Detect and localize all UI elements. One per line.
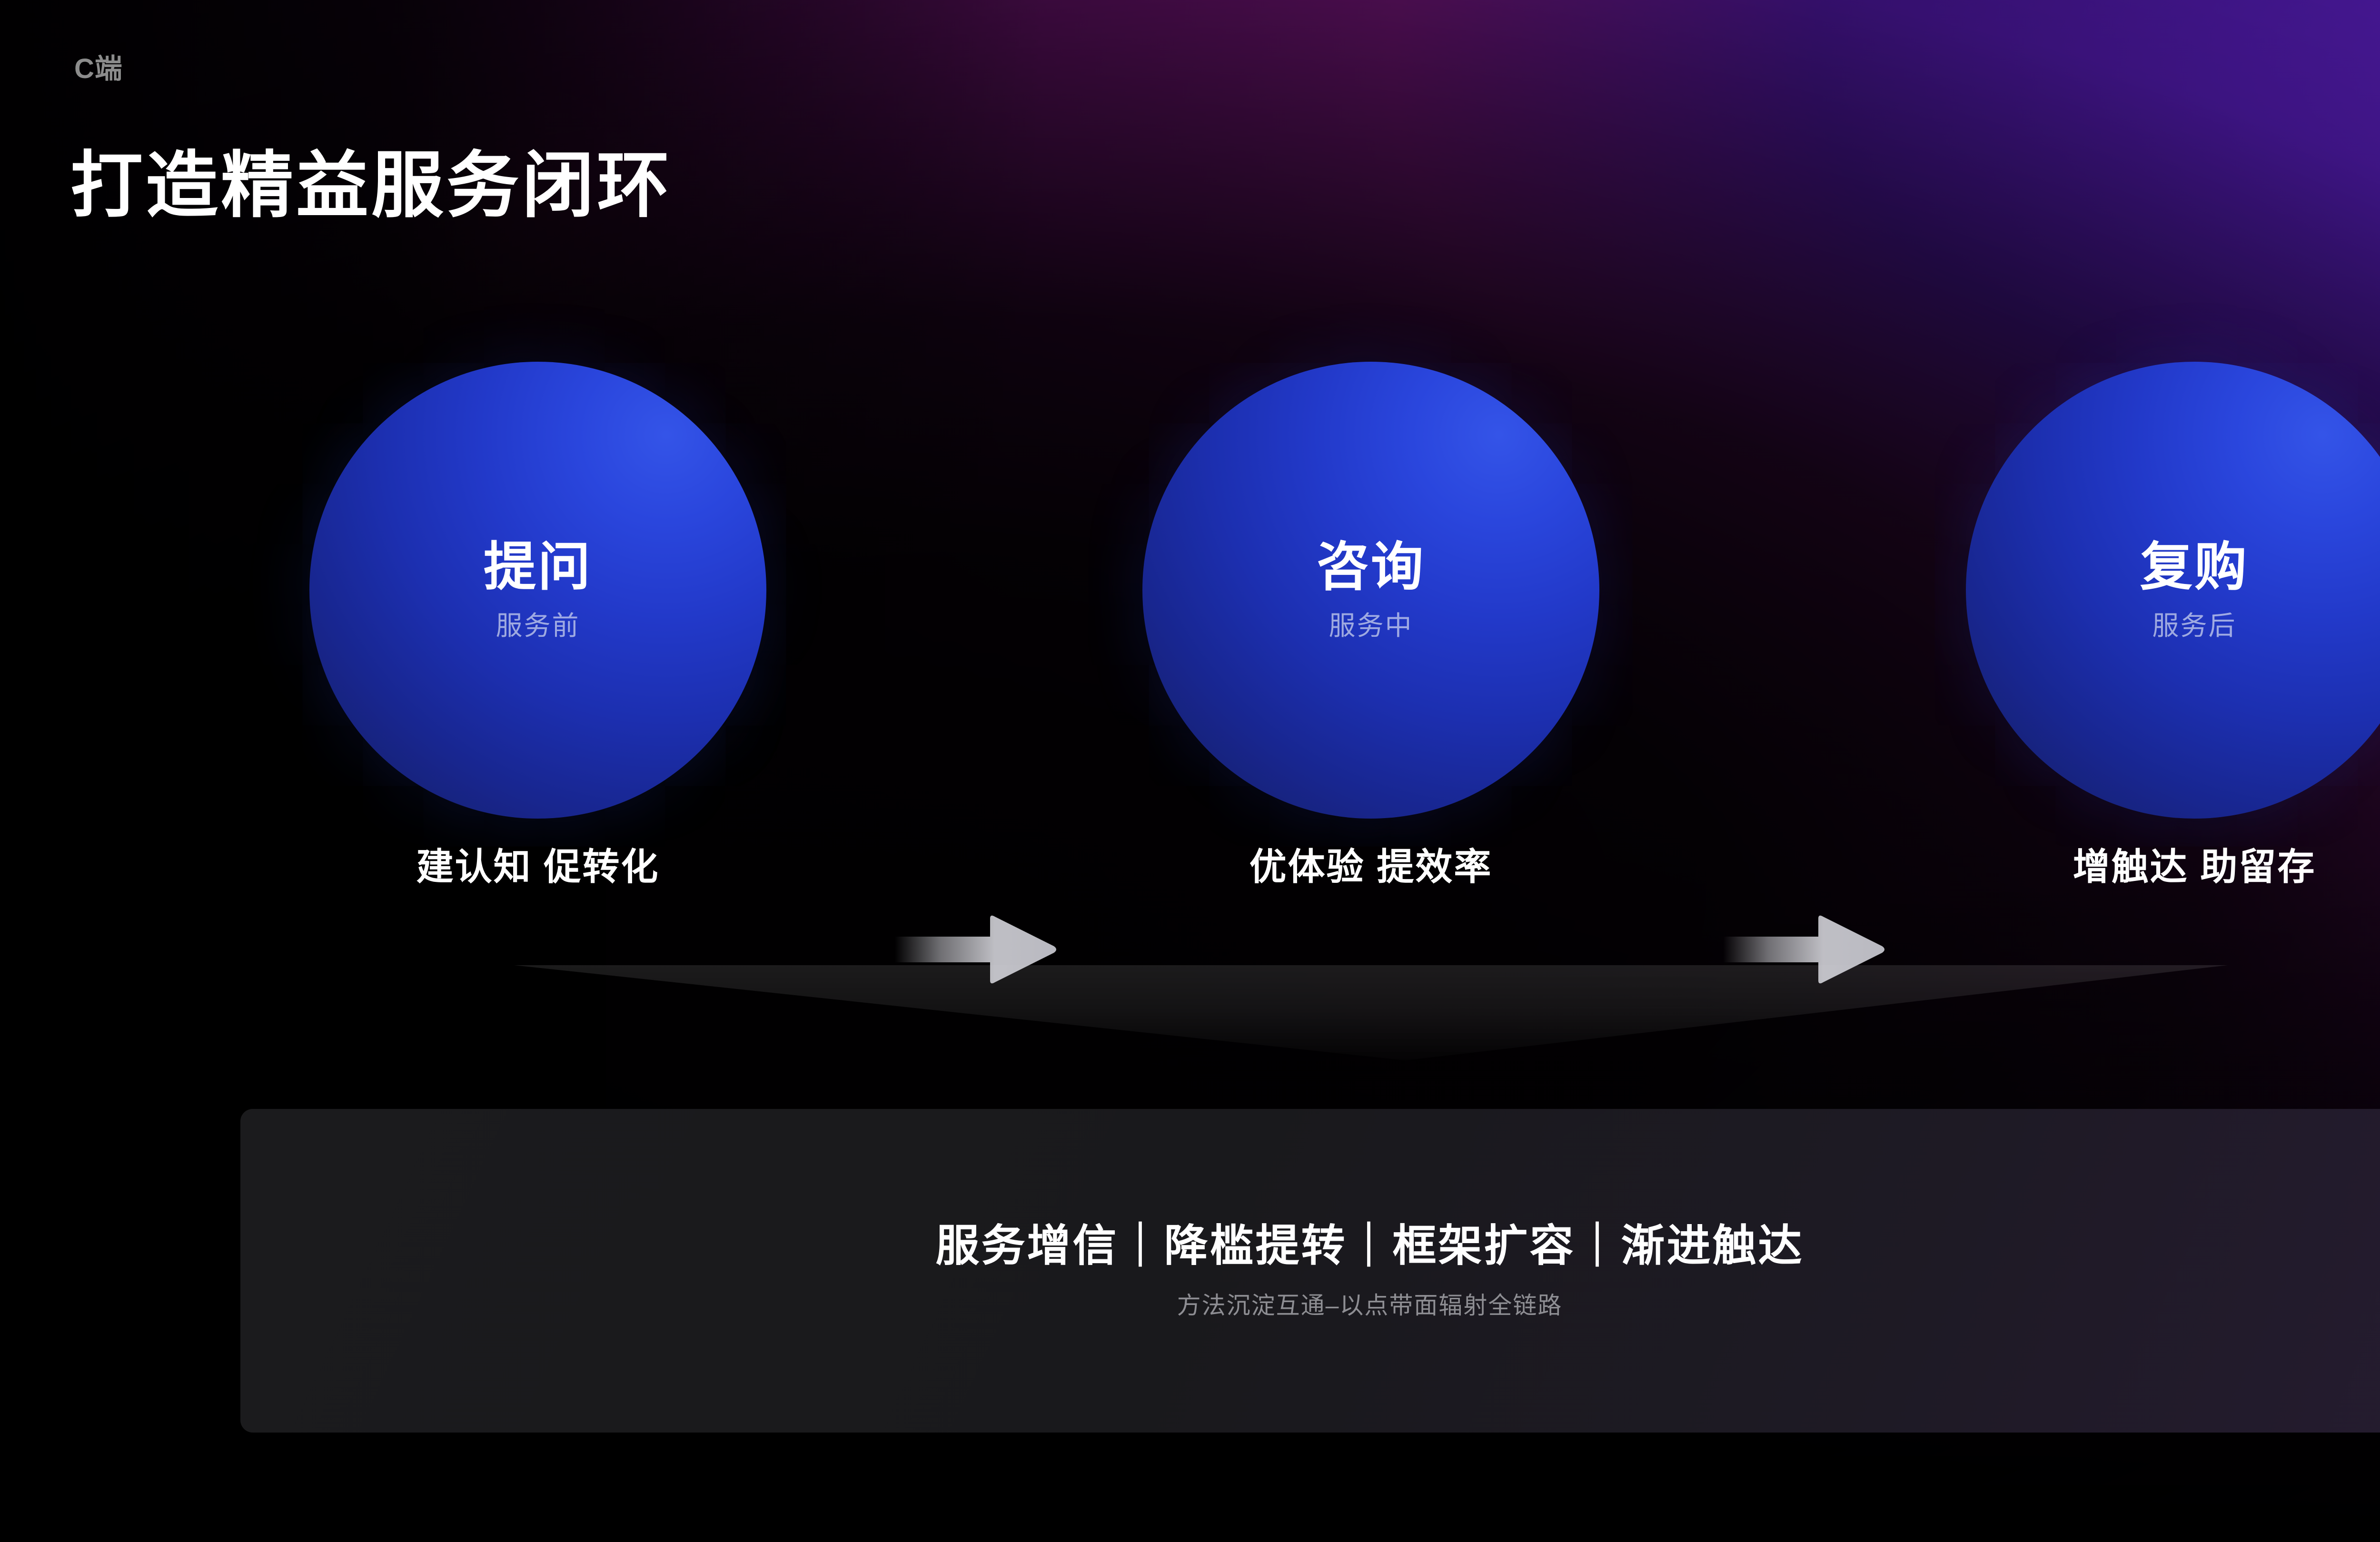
flow-stage-2[interactable]: 咨询 服务中: [1142, 362, 1599, 819]
stage-subtitle: 服务后: [2152, 613, 2237, 639]
stage-title: 复购: [2140, 541, 2249, 593]
arrow-right-icon: [1723, 914, 1885, 985]
stage-bubble: 复购 服务后: [1966, 362, 2380, 819]
stage-title: 咨询: [1317, 541, 1425, 593]
stage-caption: 增触达 助留存: [1966, 848, 2380, 885]
stage-subtitle: 服务前: [496, 613, 580, 639]
stage-title: 提问: [484, 541, 592, 593]
stage-subtitle: 服务中: [1329, 613, 1413, 639]
flow-stage-3[interactable]: 复购 服务后: [1966, 362, 2380, 819]
stage-caption: 建认知 促转化: [309, 848, 766, 885]
page-title: 打造精益服务闭环: [70, 147, 672, 225]
flow-stage-1[interactable]: 提问 服务前: [309, 362, 766, 819]
stage-caption: 优体验 提效率: [1142, 848, 1599, 885]
flow-stage-row: 提问 服务前 咨询 服务中 复购 服务后: [0, 362, 2380, 933]
slide-root: C端 打造精益服务闭环 提问 服务前 咨询 服务中 复购 服务后: [0, 0, 2380, 1542]
summary-subtext: 方法沉淀互通–以点带面辐射全链路: [1177, 1294, 1563, 1317]
stage-bubble: 提问 服务前: [309, 362, 766, 819]
section-kicker: C端: [74, 55, 123, 83]
summary-headline: 服务增信｜降槛提转｜框架扩容｜渐进触达: [935, 1224, 1804, 1268]
arrow-right-icon: [895, 914, 1057, 985]
stage-bubble: 咨询 服务中: [1142, 362, 1599, 819]
summary-panel: 服务增信｜降槛提转｜框架扩容｜渐进触达 方法沉淀互通–以点带面辐射全链路: [240, 1109, 2380, 1433]
